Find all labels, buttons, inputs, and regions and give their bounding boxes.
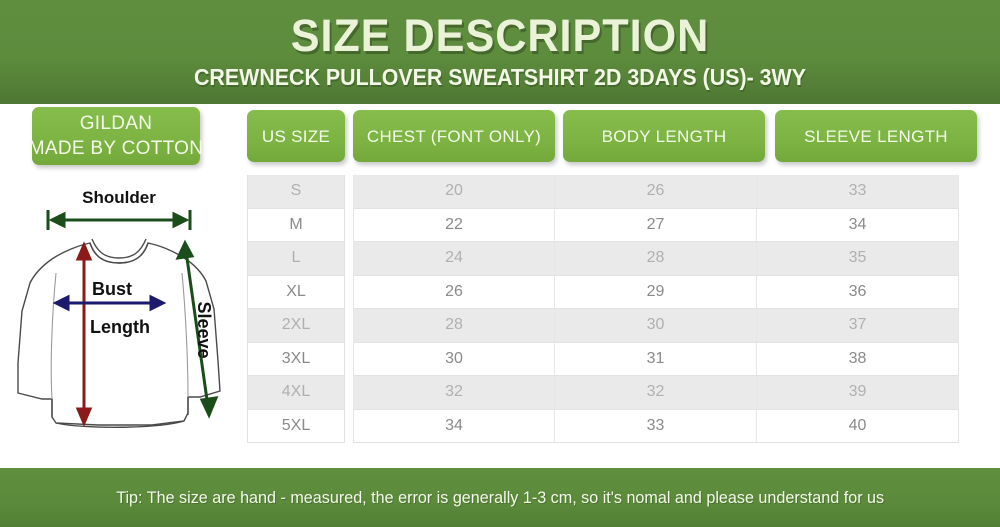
size-chart-page: SIZE DESCRIPTION CREWNECK PULLOVER SWEAT…	[0, 0, 1000, 527]
column-header-chest: CHEST (FONT ONLY)	[353, 110, 555, 162]
cell-body: 27	[555, 209, 757, 243]
column-header-body-length: BODY LENGTH	[563, 110, 765, 162]
cell-sleeve: 36	[757, 276, 959, 310]
cell-size: L	[247, 242, 345, 276]
cell-sleeve: 33	[757, 175, 959, 209]
brand-tagline: MADE BY COTTON	[29, 136, 204, 161]
cell-size: 5XL	[247, 410, 345, 444]
cell-chest: 34	[353, 410, 555, 444]
brand-tab: GILDAN MADE BY COTTON	[32, 107, 200, 165]
brand-name: GILDAN	[80, 111, 153, 136]
size-table: S 20 26 33 M 22 27 34 L 24 28 35 XL 26 2…	[247, 175, 977, 443]
table-row: S 20 26 33	[247, 175, 977, 209]
shoulder-measure-arrow	[48, 210, 190, 230]
table-row: 2XL 28 30 37	[247, 309, 977, 343]
table-row: 5XL 34 33 40	[247, 410, 977, 444]
column-header-body-length-label: BODY LENGTH	[602, 125, 727, 148]
cell-body: 31	[555, 343, 757, 377]
table-row: L 24 28 35	[247, 242, 977, 276]
cell-size: 3XL	[247, 343, 345, 377]
table-row: 3XL 30 31 38	[247, 343, 977, 377]
cell-body: 28	[555, 242, 757, 276]
cell-size: S	[247, 175, 345, 209]
page-subtitle: CREWNECK PULLOVER SWEATSHIRT 2D 3DAYS (U…	[35, 62, 965, 92]
page-title: SIZE DESCRIPTION	[20, 10, 980, 62]
column-header-sleeve-length-label: SLEEVE LENGTH	[804, 125, 948, 148]
cell-chest: 26	[353, 276, 555, 310]
cell-chest: 20	[353, 175, 555, 209]
shoulder-label: Shoulder	[82, 188, 156, 207]
cell-body: 32	[555, 376, 757, 410]
cell-sleeve: 39	[757, 376, 959, 410]
bust-label: Bust	[92, 279, 132, 299]
cell-body: 26	[555, 175, 757, 209]
cell-sleeve: 38	[757, 343, 959, 377]
cell-body: 29	[555, 276, 757, 310]
table-row: 4XL 32 32 39	[247, 376, 977, 410]
cell-size: 2XL	[247, 309, 345, 343]
column-header-chest-label: CHEST (FONT ONLY)	[367, 125, 541, 148]
cell-chest: 24	[353, 242, 555, 276]
cell-size: 4XL	[247, 376, 345, 410]
column-header-us-size-label: US SIZE	[262, 125, 330, 148]
header-band: SIZE DESCRIPTION CREWNECK PULLOVER SWEAT…	[0, 0, 1000, 104]
cell-chest: 28	[353, 309, 555, 343]
table-row: XL 26 29 36	[247, 276, 977, 310]
cell-sleeve: 37	[757, 309, 959, 343]
cell-sleeve: 34	[757, 209, 959, 243]
shirt-measurement-diagram: Shoulder Length Bust Sleeve	[12, 185, 242, 443]
cell-body: 33	[555, 410, 757, 444]
cell-sleeve: 40	[757, 410, 959, 444]
sleeve-label: Sleeve	[194, 301, 214, 358]
cell-size: XL	[247, 276, 345, 310]
footer-band: Tip: The size are hand - measured, the e…	[0, 468, 1000, 527]
shirt-diagram-svg: Shoulder Length Bust Sleeve	[12, 185, 242, 443]
column-header-us-size: US SIZE	[247, 110, 345, 162]
footer-tip-text: Tip: The size are hand - measured, the e…	[116, 488, 884, 508]
column-header-sleeve-length: SLEEVE LENGTH	[775, 110, 977, 162]
cell-size: M	[247, 209, 345, 243]
cell-sleeve: 35	[757, 242, 959, 276]
table-row: M 22 27 34	[247, 209, 977, 243]
cell-chest: 22	[353, 209, 555, 243]
length-label: Length	[90, 317, 150, 337]
cell-chest: 30	[353, 343, 555, 377]
cell-chest: 32	[353, 376, 555, 410]
cell-body: 30	[555, 309, 757, 343]
